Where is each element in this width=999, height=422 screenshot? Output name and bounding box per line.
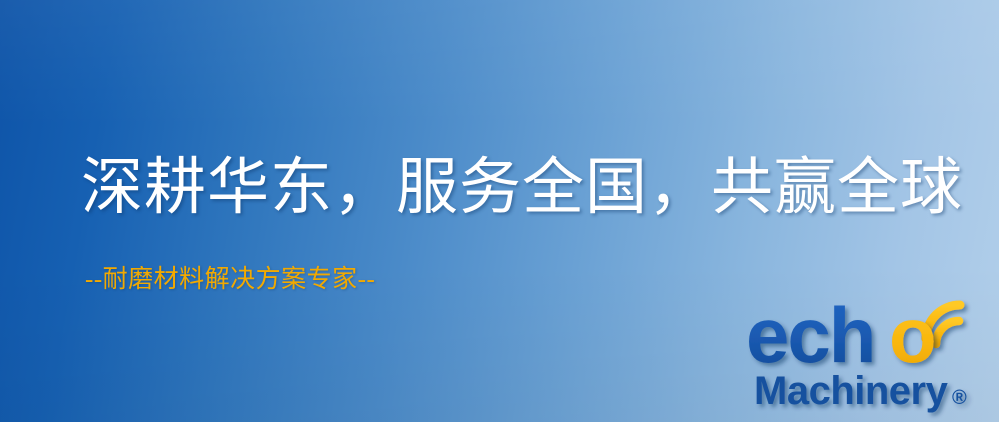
echo-machinery-logo[interactable]: ech o Machinery ® xyxy=(744,292,999,422)
hero-banner: 深耕华东，服务全国，共赢全球 --耐磨材料解决方案专家-- xyxy=(0,0,999,422)
logo-wordmark-o: o xyxy=(889,292,937,379)
logo-registered-mark: ® xyxy=(952,387,967,409)
banner-subtitle: --耐磨材料解决方案专家-- xyxy=(85,264,375,296)
banner-headline: 深耕华东，服务全国，共赢全球 xyxy=(81,152,963,224)
logo-tagline: Machinery xyxy=(754,369,949,413)
logo-wordmark-ech: ech xyxy=(746,292,874,379)
